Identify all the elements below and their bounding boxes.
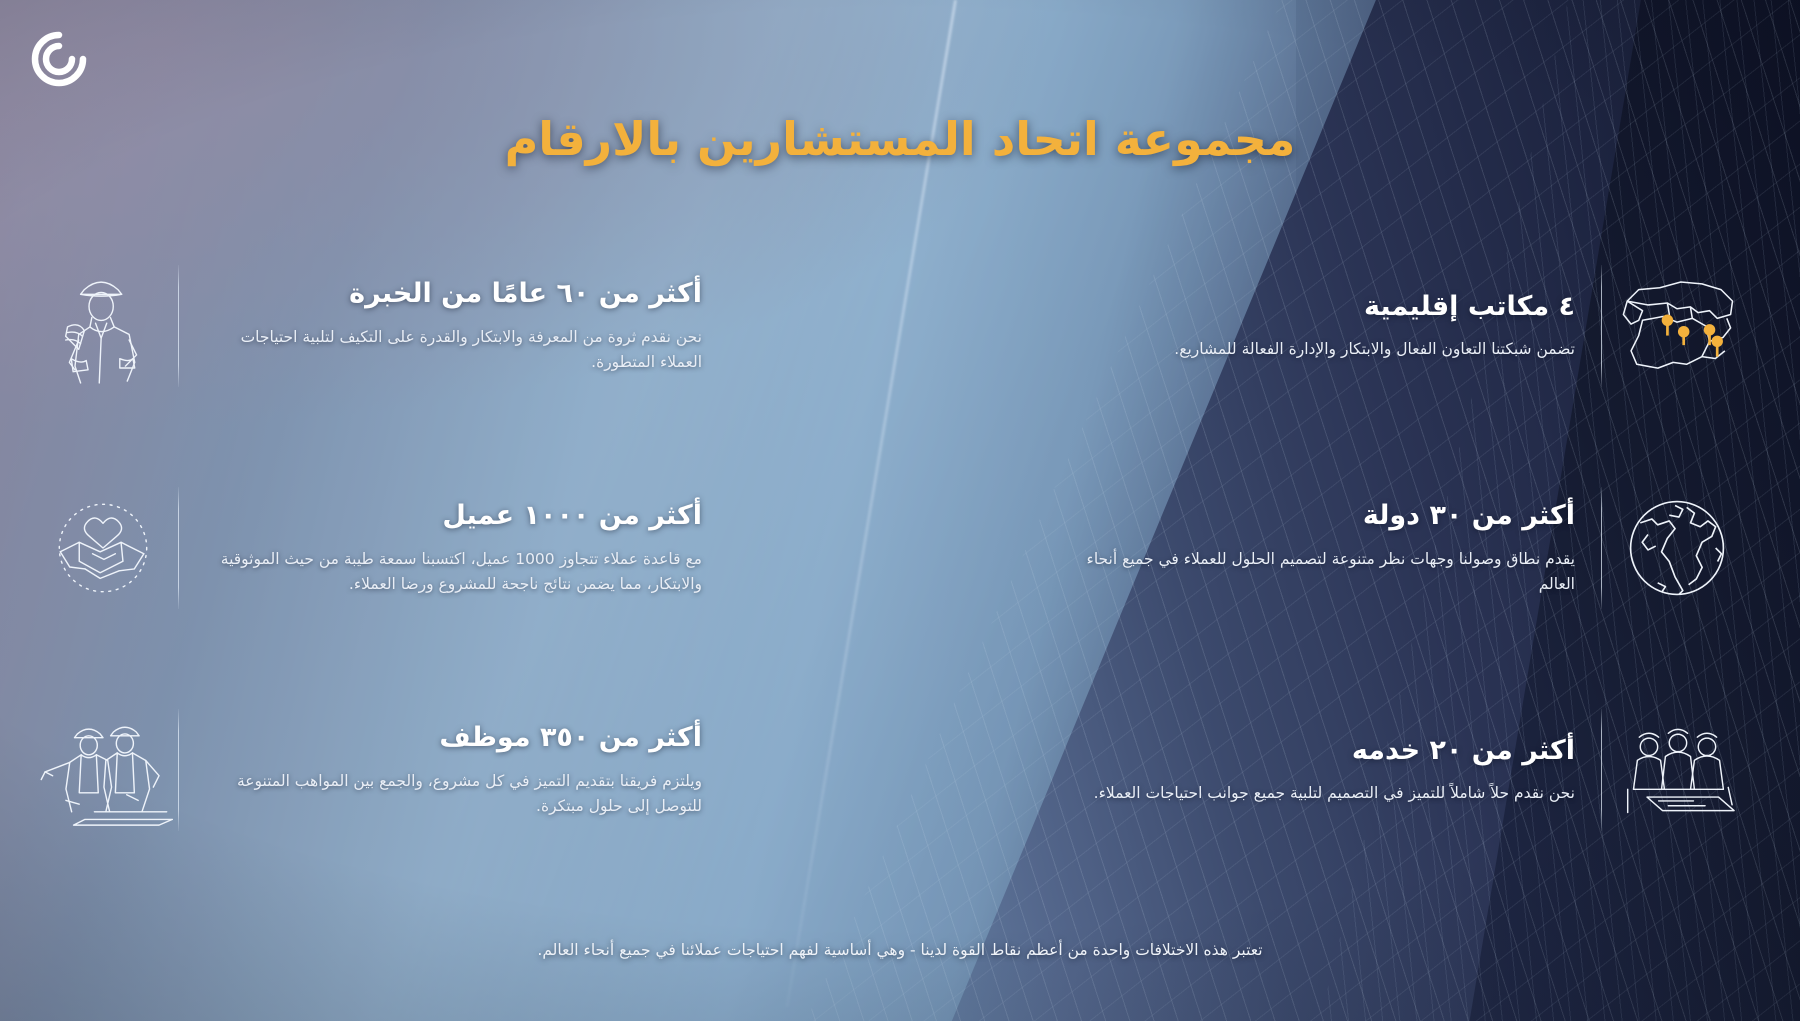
stat-item-experience: أكثر من ٦٠ عامًا من الخبرة نحن نقدم ثروة… <box>28 215 728 437</box>
handshake-heart-icon <box>28 483 178 613</box>
stat-item-countries: أكثر من ٣٠ دولة يقدم نطاق وصولنا وجهات ن… <box>1052 437 1752 659</box>
footer-note: تعتبر هذه الاختلافات واحدة من أعظم نقاط … <box>0 938 1800 963</box>
globe-icon <box>1602 483 1752 613</box>
stats-column-left: أكثر من ٦٠ عامًا من الخبرة نحن نقدم ثروة… <box>28 215 728 881</box>
stat-item-clients: أكثر من ١٠٠٠ عميل مع قاعدة عملاء تتجاوز … <box>28 437 728 659</box>
stat-text: أكثر من ٣٥٠ موظف ويلتزم فريقنا بتقديم ال… <box>179 721 728 819</box>
stat-title: أكثر من ٢٠ خدمه <box>1078 734 1575 768</box>
workers-pointing-icon <box>28 705 178 835</box>
stat-title: أكثر من ٣٠ دولة <box>1078 499 1575 533</box>
stat-item-employees: أكثر من ٣٥٠ موظف ويلتزم فريقنا بتقديم ال… <box>28 659 728 881</box>
stat-divider <box>1601 709 1602 831</box>
stat-title: ٤ مكاتب إقليمية <box>1078 290 1575 324</box>
stat-divider <box>178 709 179 831</box>
stat-description: ويلتزم فريقنا بتقديم التميز في كل مشروع،… <box>205 769 702 819</box>
stat-title: أكثر من ٣٥٠ موظف <box>205 721 702 755</box>
stat-text: أكثر من ٢٠ خدمه نحن نقدم حلاً شاملاً للت… <box>1052 734 1601 807</box>
stat-title: أكثر من ١٠٠٠ عميل <box>205 499 702 533</box>
stat-text: أكثر من ٣٠ دولة يقدم نطاق وصولنا وجهات ن… <box>1052 499 1601 597</box>
stat-item-services: أكثر من ٢٠ خدمه نحن نقدم حلاً شاملاً للت… <box>1052 659 1752 881</box>
company-logo[interactable] <box>28 28 90 90</box>
stat-description: مع قاعدة عملاء تتجاوز 1000 عميل، اكتسبنا… <box>205 547 702 597</box>
stat-text: أكثر من ٦٠ عامًا من الخبرة نحن نقدم ثروة… <box>179 277 728 375</box>
middle-east-map-pins-icon <box>1602 261 1752 391</box>
stats-column-right: ٤ مكاتب إقليمية تضمن شبكتنا التعاون الفع… <box>1052 215 1752 881</box>
stat-description: نحن نقدم ثروة من المعرفة والابتكار والقد… <box>205 325 702 375</box>
stat-description: تضمن شبكتنا التعاون الفعال والابتكار وال… <box>1078 337 1575 362</box>
stat-divider <box>1601 487 1602 609</box>
stat-text: ٤ مكاتب إقليمية تضمن شبكتنا التعاون الفع… <box>1052 290 1601 363</box>
team-meeting-icon <box>1602 705 1752 835</box>
stat-divider <box>178 265 179 387</box>
stat-text: أكثر من ١٠٠٠ عميل مع قاعدة عملاء تتجاوز … <box>179 499 728 597</box>
page-title: مجموعة اتحاد المستشارين بالارقام <box>0 112 1800 166</box>
stat-divider <box>178 487 179 609</box>
stat-item-offices: ٤ مكاتب إقليمية تضمن شبكتنا التعاون الفع… <box>1052 215 1752 437</box>
stat-divider <box>1601 265 1602 387</box>
engineer-blueprint-icon <box>28 261 178 391</box>
infographic-canvas: مجموعة اتحاد المستشارين بالارقام <box>0 0 1800 1021</box>
stat-description: يقدم نطاق وصولنا وجهات نظر متنوعة لتصميم… <box>1078 547 1575 597</box>
stat-description: نحن نقدم حلاً شاملاً للتميز في التصميم ل… <box>1078 781 1575 806</box>
stat-title: أكثر من ٦٠ عامًا من الخبرة <box>205 277 702 311</box>
